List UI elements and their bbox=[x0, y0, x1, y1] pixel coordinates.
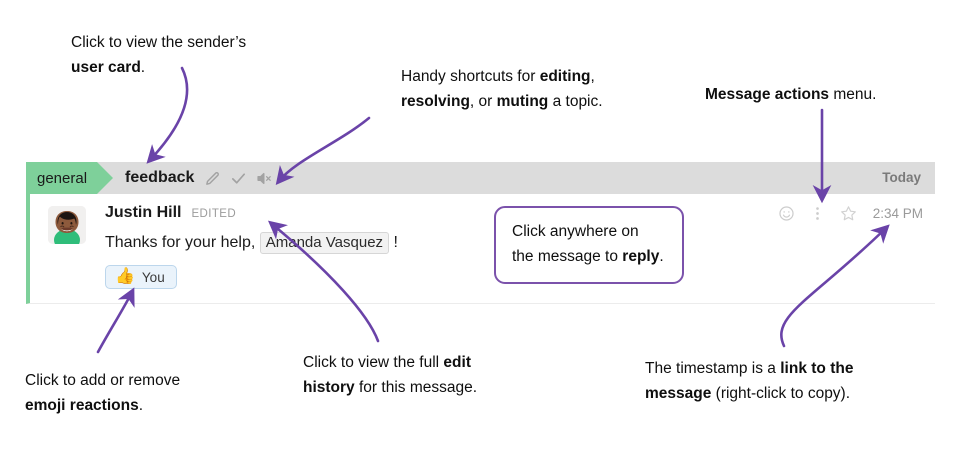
message-timestamp[interactable]: 2:34 PM bbox=[873, 206, 923, 221]
annotation-shortcuts-mid2: , or bbox=[470, 93, 497, 110]
edited-badge[interactable]: EDITED bbox=[191, 208, 236, 220]
annotation-edit-history-tail: for this message. bbox=[355, 379, 477, 396]
annotation-emoji-reactions-tail: . bbox=[139, 397, 143, 414]
message-text-before: Thanks for your help, bbox=[105, 234, 255, 251]
callout-reply-pre: the message to bbox=[512, 248, 622, 265]
emoji-picker-icon[interactable] bbox=[778, 205, 795, 222]
annotation-topic-shortcuts-line2: resolving, or muting a topic. bbox=[401, 89, 603, 114]
user-mention[interactable]: Amanda Vasquez bbox=[260, 232, 389, 254]
star-icon[interactable] bbox=[840, 205, 857, 222]
annotation-emoji-reactions-bold: emoji reactions bbox=[25, 397, 139, 414]
topic-icon-group bbox=[204, 170, 273, 187]
reaction-label: You bbox=[142, 270, 165, 285]
annotation-edit-history: Click to view the full edit history for … bbox=[303, 350, 477, 400]
recipient-bar-date[interactable]: Today bbox=[882, 162, 921, 194]
callout-reply-tail: . bbox=[659, 248, 663, 265]
recipient-bar[interactable]: general feedback Today bbox=[26, 162, 935, 194]
message-widget: general feedback Today bbox=[26, 162, 935, 304]
annotation-message-actions-bold: Message actions bbox=[705, 86, 829, 103]
annotation-message-actions-tail: menu. bbox=[829, 86, 876, 103]
annotation-emoji-reactions-line2: emoji reactions. bbox=[25, 393, 180, 418]
stream-label-general[interactable]: general bbox=[26, 162, 97, 194]
annotation-topic-shortcuts: Handy shortcuts for editing, resolving, … bbox=[401, 64, 603, 114]
annotation-timestamp-line1: The timestamp is a link to the bbox=[645, 356, 853, 381]
annotation-shortcuts-comma1: , bbox=[591, 68, 595, 85]
callout-reply-bold: reply bbox=[622, 248, 659, 265]
message-controls: 2:34 PM bbox=[778, 205, 923, 222]
mute-icon[interactable] bbox=[256, 170, 273, 187]
annotation-timestamp-line2: message (right-click to copy). bbox=[645, 381, 853, 406]
callout-click-to-reply: Click anywhere on the message to reply. bbox=[494, 206, 684, 284]
annotation-shortcuts-tail: a topic. bbox=[548, 93, 602, 110]
annotation-edit-history-pre: Click to view the full bbox=[303, 354, 443, 371]
annotation-edit-history-b2: history bbox=[303, 379, 355, 396]
stream-name: general bbox=[37, 170, 87, 187]
annotation-edit-history-b1: edit bbox=[443, 354, 471, 371]
callout-reply-line1: Click anywhere on bbox=[512, 219, 666, 244]
pencil-icon[interactable] bbox=[204, 170, 221, 187]
message-text-after: ! bbox=[394, 234, 398, 251]
topic-name[interactable]: feedback bbox=[125, 169, 194, 187]
annotation-shortcuts-editing: editing bbox=[540, 68, 591, 85]
message-row[interactable]: Justin Hill EDITED Thanks for your help,… bbox=[26, 194, 935, 304]
annotation-message-actions: Message actions menu. bbox=[705, 82, 876, 107]
annotation-shortcuts-pre: Handy shortcuts for bbox=[401, 68, 540, 85]
annotation-emoji-reactions: Click to add or remove emoji reactions. bbox=[25, 368, 180, 418]
callout-reply-line2: the message to reply. bbox=[512, 244, 666, 269]
annotation-user-card-tail: . bbox=[141, 59, 145, 76]
check-icon[interactable] bbox=[230, 170, 247, 187]
annotation-timestamp-b1: link to the bbox=[780, 360, 853, 377]
annotation-user-card-bold: user card bbox=[71, 59, 141, 76]
annotation-emoji-reactions-line1: Click to add or remove bbox=[25, 368, 180, 393]
annotation-timestamp-link: The timestamp is a link to the message (… bbox=[645, 356, 853, 406]
annotation-user-card: Click to view the sender’s user card. bbox=[71, 30, 246, 80]
annotation-edit-history-line1: Click to view the full edit bbox=[303, 350, 477, 375]
reaction-pill-thumbsup[interactable]: 👍 You bbox=[105, 265, 177, 289]
sender-name[interactable]: Justin Hill bbox=[105, 204, 181, 222]
thumbs-up-icon: 👍 bbox=[115, 269, 135, 285]
avatar[interactable] bbox=[48, 206, 86, 244]
arrow-to-avatar bbox=[150, 68, 187, 160]
annotation-user-card-line2: user card. bbox=[71, 55, 246, 80]
annotation-edit-history-line2: history for this message. bbox=[303, 375, 477, 400]
message-actions-icon[interactable] bbox=[809, 205, 826, 222]
annotation-user-card-line1: Click to view the sender’s bbox=[71, 30, 246, 55]
annotation-topic-shortcuts-line1: Handy shortcuts for editing, bbox=[401, 64, 603, 89]
annotation-timestamp-tail: (right-click to copy). bbox=[711, 385, 850, 402]
annotation-timestamp-b2: message bbox=[645, 385, 711, 402]
annotation-timestamp-pre: The timestamp is a bbox=[645, 360, 780, 377]
annotation-shortcuts-resolving: resolving bbox=[401, 93, 470, 110]
annotation-shortcuts-muting: muting bbox=[497, 93, 549, 110]
